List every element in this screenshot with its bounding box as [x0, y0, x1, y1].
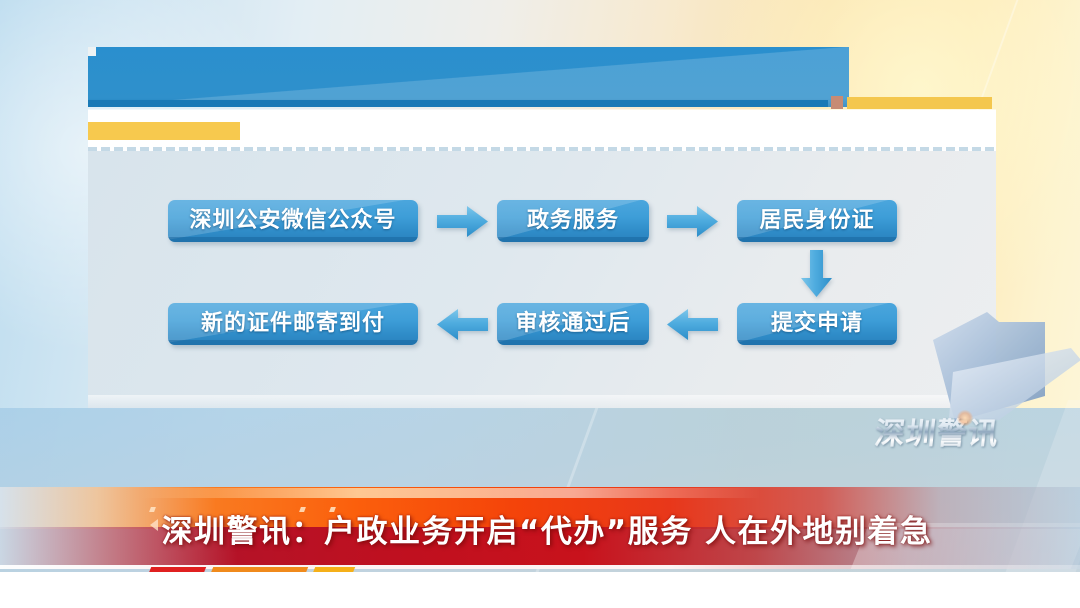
flow-step-4-label: 提交申请: [737, 303, 897, 345]
arrow-down-icon: [800, 250, 833, 298]
flow-step-1-label: 深圳公安微信公众号: [168, 200, 418, 242]
broadcast-frame: 深圳公安微信公众号 政务服务: [0, 0, 1080, 608]
flow-step-6[interactable]: 新的证件邮寄到付: [168, 303, 418, 345]
flow-step-5[interactable]: 审核通过后: [497, 303, 649, 345]
flow-step-4[interactable]: 提交申请: [737, 303, 897, 345]
lower-third-banner: 深圳警讯：户政业务开启“代办”服务 人在外地别着急: [0, 487, 1080, 572]
flow-step-3-label: 居民身份证: [737, 200, 897, 242]
lower-third-title: 深圳警讯：户政业务开启“代办”服务 人在外地别着急: [0, 493, 1080, 563]
arrow-right-icon: [437, 205, 489, 238]
flow-step-2-label: 政务服务: [497, 200, 649, 242]
arrow-left-icon: [667, 308, 719, 341]
channel-logo: 深圳警讯: [871, 409, 1004, 453]
flow-step-6-label: 新的证件邮寄到付: [168, 303, 418, 345]
flow-step-5-label: 审核通过后: [497, 303, 649, 345]
logo-spark: [957, 410, 973, 426]
arrow-right-icon: [667, 205, 719, 238]
flow-step-2[interactable]: 政务服务: [497, 200, 649, 242]
flow-step-3[interactable]: 居民身份证: [737, 200, 897, 242]
arrow-left-icon: [437, 308, 489, 341]
bottom-letterbox: [0, 572, 1080, 608]
flow-step-1[interactable]: 深圳公安微信公众号: [168, 200, 418, 242]
